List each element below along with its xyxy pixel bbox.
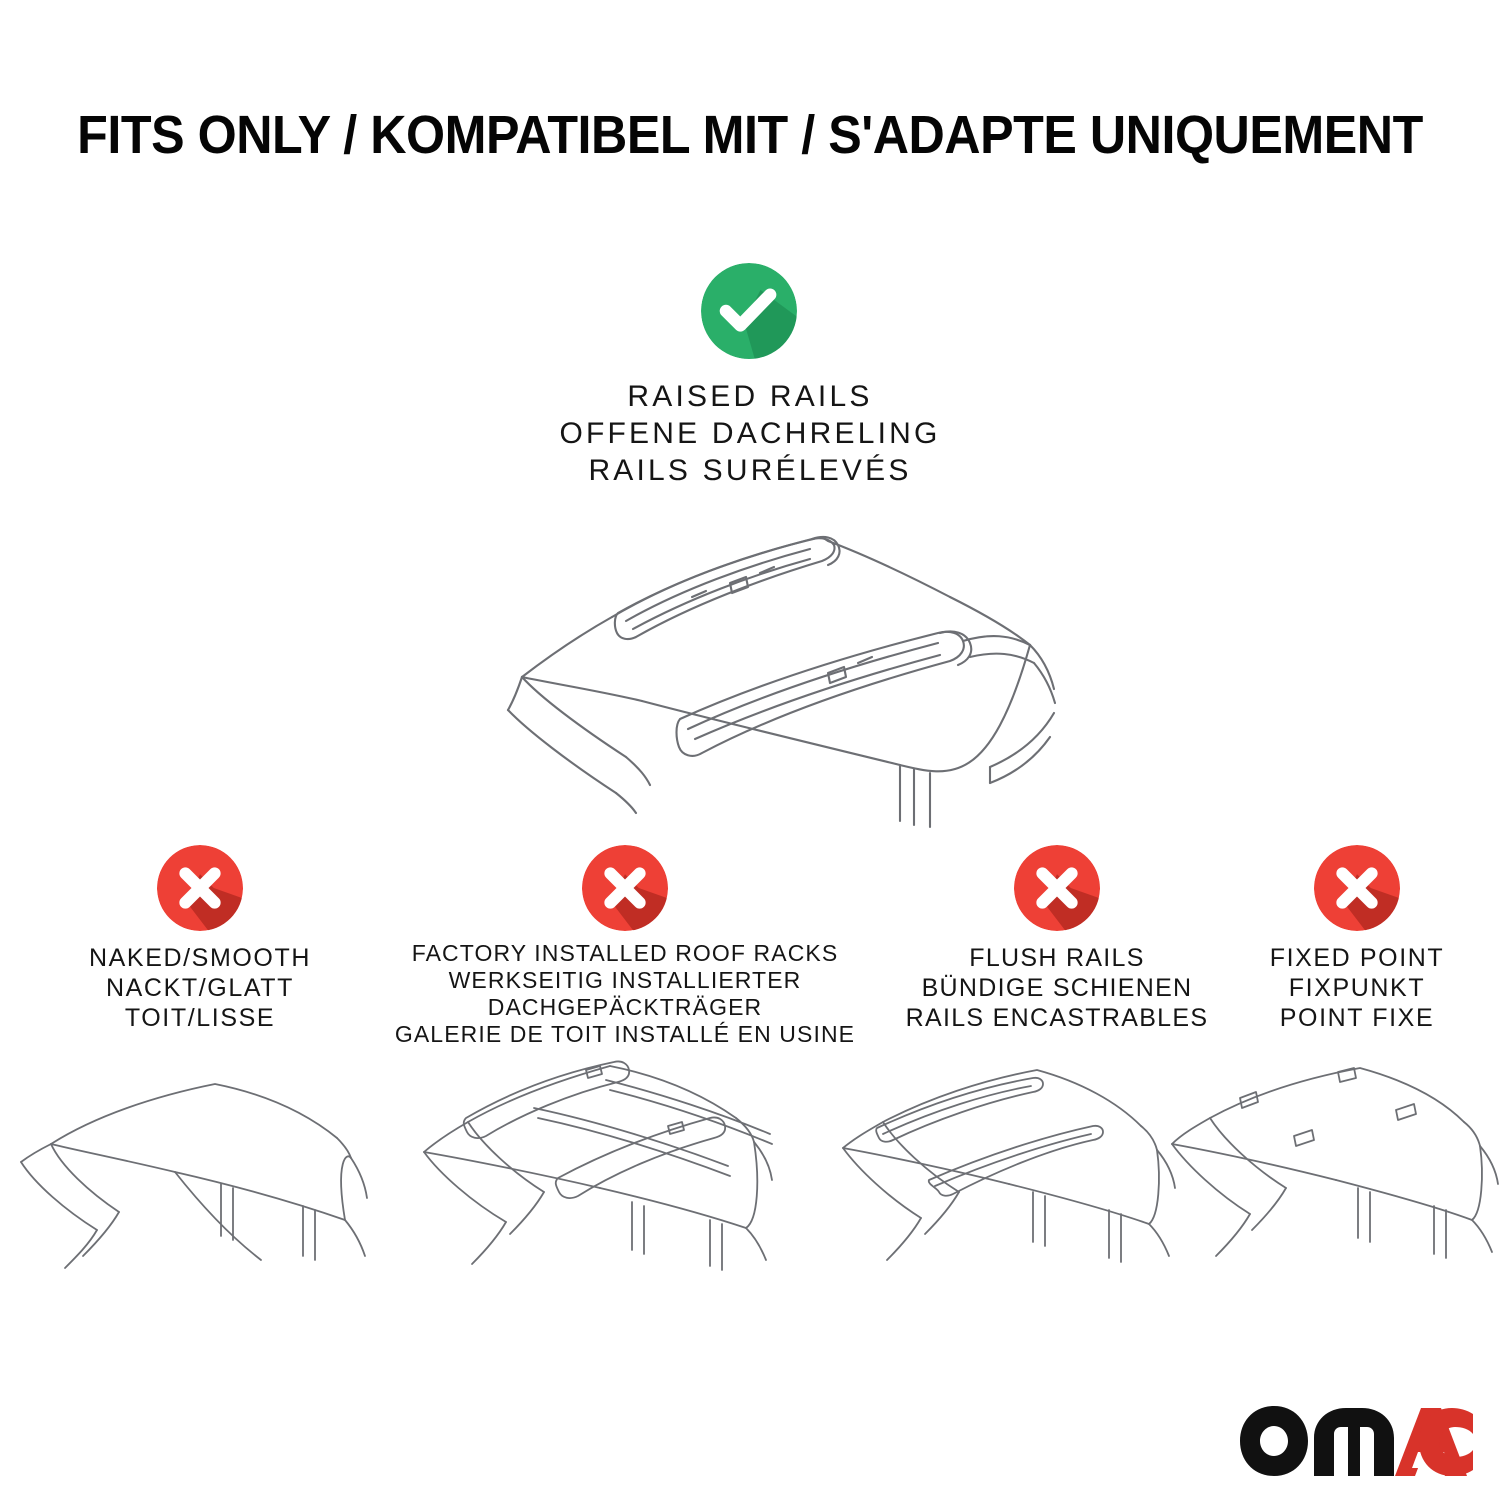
incompatible-caption: FIXED POINT FIXPUNKT POINT FIXE [1222,943,1492,1033]
incompatible-caption: FACTORY INSTALLED ROOF RACKS WERKSEITIG … [375,940,875,1048]
x-circle-icon [582,845,668,931]
logo-letter-m [1314,1408,1394,1476]
logo-letter-o [1240,1406,1308,1476]
caption-line-fr: RAILS ENCASTRABLES [862,1003,1252,1033]
compatible-line-de: OFFENE DACHRELING [0,415,1500,452]
caption-line-de: NACKT/GLATT [20,973,380,1003]
omac-logo: OMAC [1238,1404,1473,1478]
caption-line-de-1: WERKSEITIG INSTALLIERTER [375,967,875,994]
car-roof-naked-smooth-diagram [15,1060,385,1290]
caption-line-fr: POINT FIXE [1222,1003,1492,1033]
incompatible-caption: FLUSH RAILS BÜNDIGE SCHIENEN RAILS ENCAS… [862,943,1252,1033]
caption-line-en: FACTORY INSTALLED ROOF RACKS [375,940,875,967]
caption-line-en: FLUSH RAILS [862,943,1252,973]
caption-line-fr: TOIT/LISSE [20,1003,380,1033]
compatible-caption: RAISED RAILS OFFENE DACHRELING RAILS SUR… [0,378,1500,489]
caption-line-fr: GALERIE DE TOIT INSTALLÉ EN USINE [375,1021,875,1048]
car-roof-fixed-point-diagram [1162,1060,1500,1290]
x-circle-icon [1014,845,1100,931]
compatible-line-fr: RAILS SURÉLEVÉS [0,452,1500,489]
check-circle-icon [701,263,797,359]
incompatible-caption: NAKED/SMOOTH NACKT/GLATT TOIT/LISSE [20,943,380,1033]
caption-line-de: FIXPUNKT [1222,973,1492,1003]
caption-line-de: BÜNDIGE SCHIENEN [862,973,1252,1003]
compatible-line-en: RAISED RAILS [0,378,1500,415]
caption-line-de-2: DACHGEPÄCKTRÄGER [375,994,875,1021]
caption-line-en: NAKED/SMOOTH [20,943,380,973]
car-roof-factory-racks-diagram [410,1060,810,1290]
car-roof-raised-rails-diagram [430,505,1080,835]
page-title: FITS ONLY / KOMPATIBEL MIT / S'ADAPTE UN… [53,104,1448,166]
fitment-infographic: FITS ONLY / KOMPATIBEL MIT / S'ADAPTE UN… [0,0,1500,1500]
x-circle-icon [157,845,243,931]
x-circle-icon [1314,845,1400,931]
caption-line-en: FIXED POINT [1222,943,1492,973]
